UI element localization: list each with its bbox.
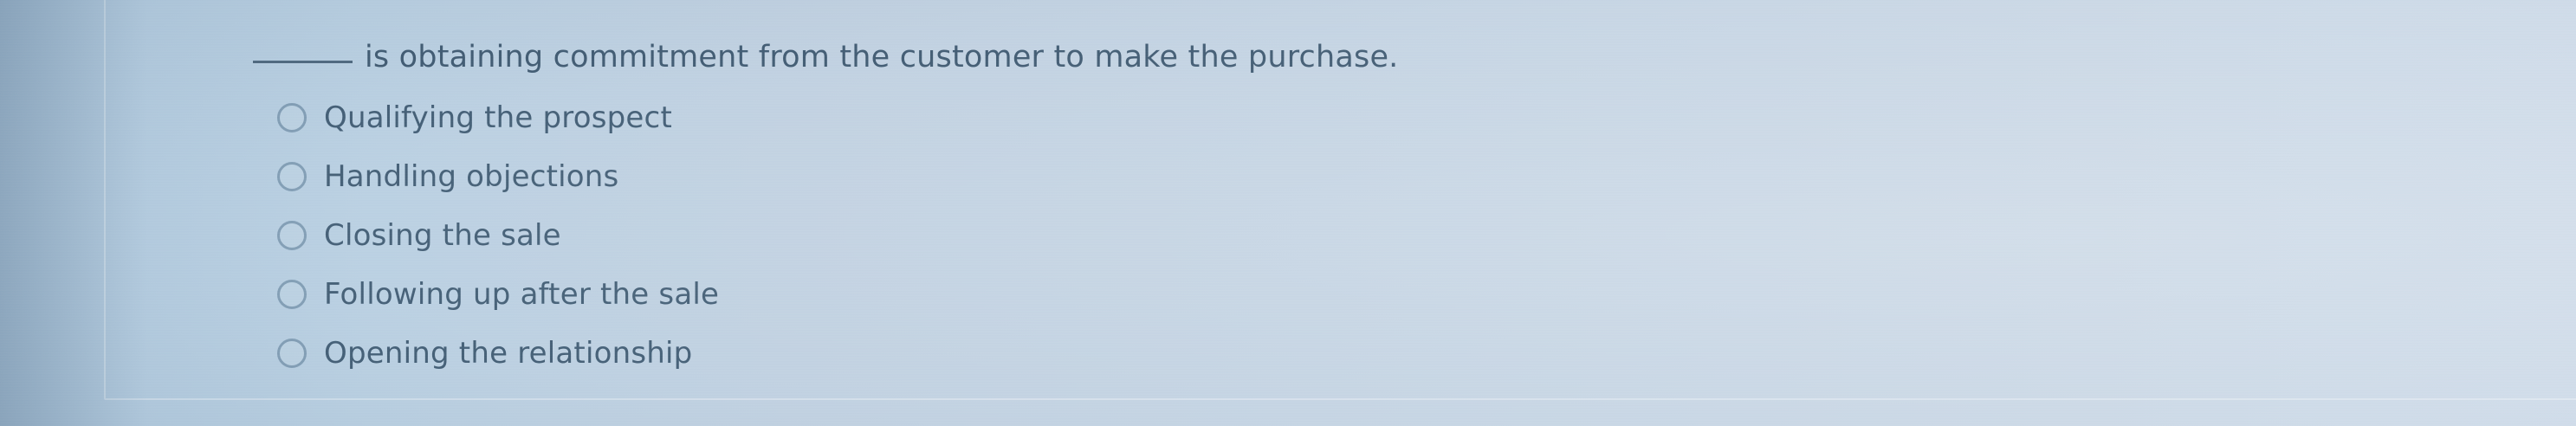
answer-option-2[interactable]: Handling objections (253, 147, 2072, 206)
answer-option-label: Qualifying the prospect (324, 100, 672, 135)
answer-option-label: Closing the sale (324, 218, 561, 253)
radio-button-icon[interactable] (277, 103, 307, 132)
answer-options-list: Qualifying the prospect Handling objecti… (253, 88, 2072, 383)
answer-option-label: Following up after the sale (324, 277, 719, 312)
radio-button-icon[interactable] (277, 280, 307, 309)
question-stem-text: is obtaining commitment from the custome… (365, 40, 1399, 74)
radio-button-icon[interactable] (277, 162, 307, 191)
quiz-screen: is obtaining commitment from the custome… (0, 0, 2576, 426)
question-block: is obtaining commitment from the custome… (253, 38, 2072, 383)
answer-option-4[interactable]: Following up after the sale (253, 265, 2072, 324)
radio-button-icon[interactable] (277, 221, 307, 250)
answer-option-label: Handling objections (324, 159, 618, 194)
blank-underline (253, 42, 353, 63)
answer-option-1[interactable]: Qualifying the prospect (253, 88, 2072, 147)
question-stem: is obtaining commitment from the custome… (253, 38, 2072, 76)
answer-option-5[interactable]: Opening the relationship (253, 324, 2072, 383)
screen-edge-shadow (0, 0, 147, 426)
radio-button-icon[interactable] (277, 339, 307, 368)
answer-option-3[interactable]: Closing the sale (253, 206, 2072, 265)
answer-option-label: Opening the relationship (324, 336, 692, 371)
